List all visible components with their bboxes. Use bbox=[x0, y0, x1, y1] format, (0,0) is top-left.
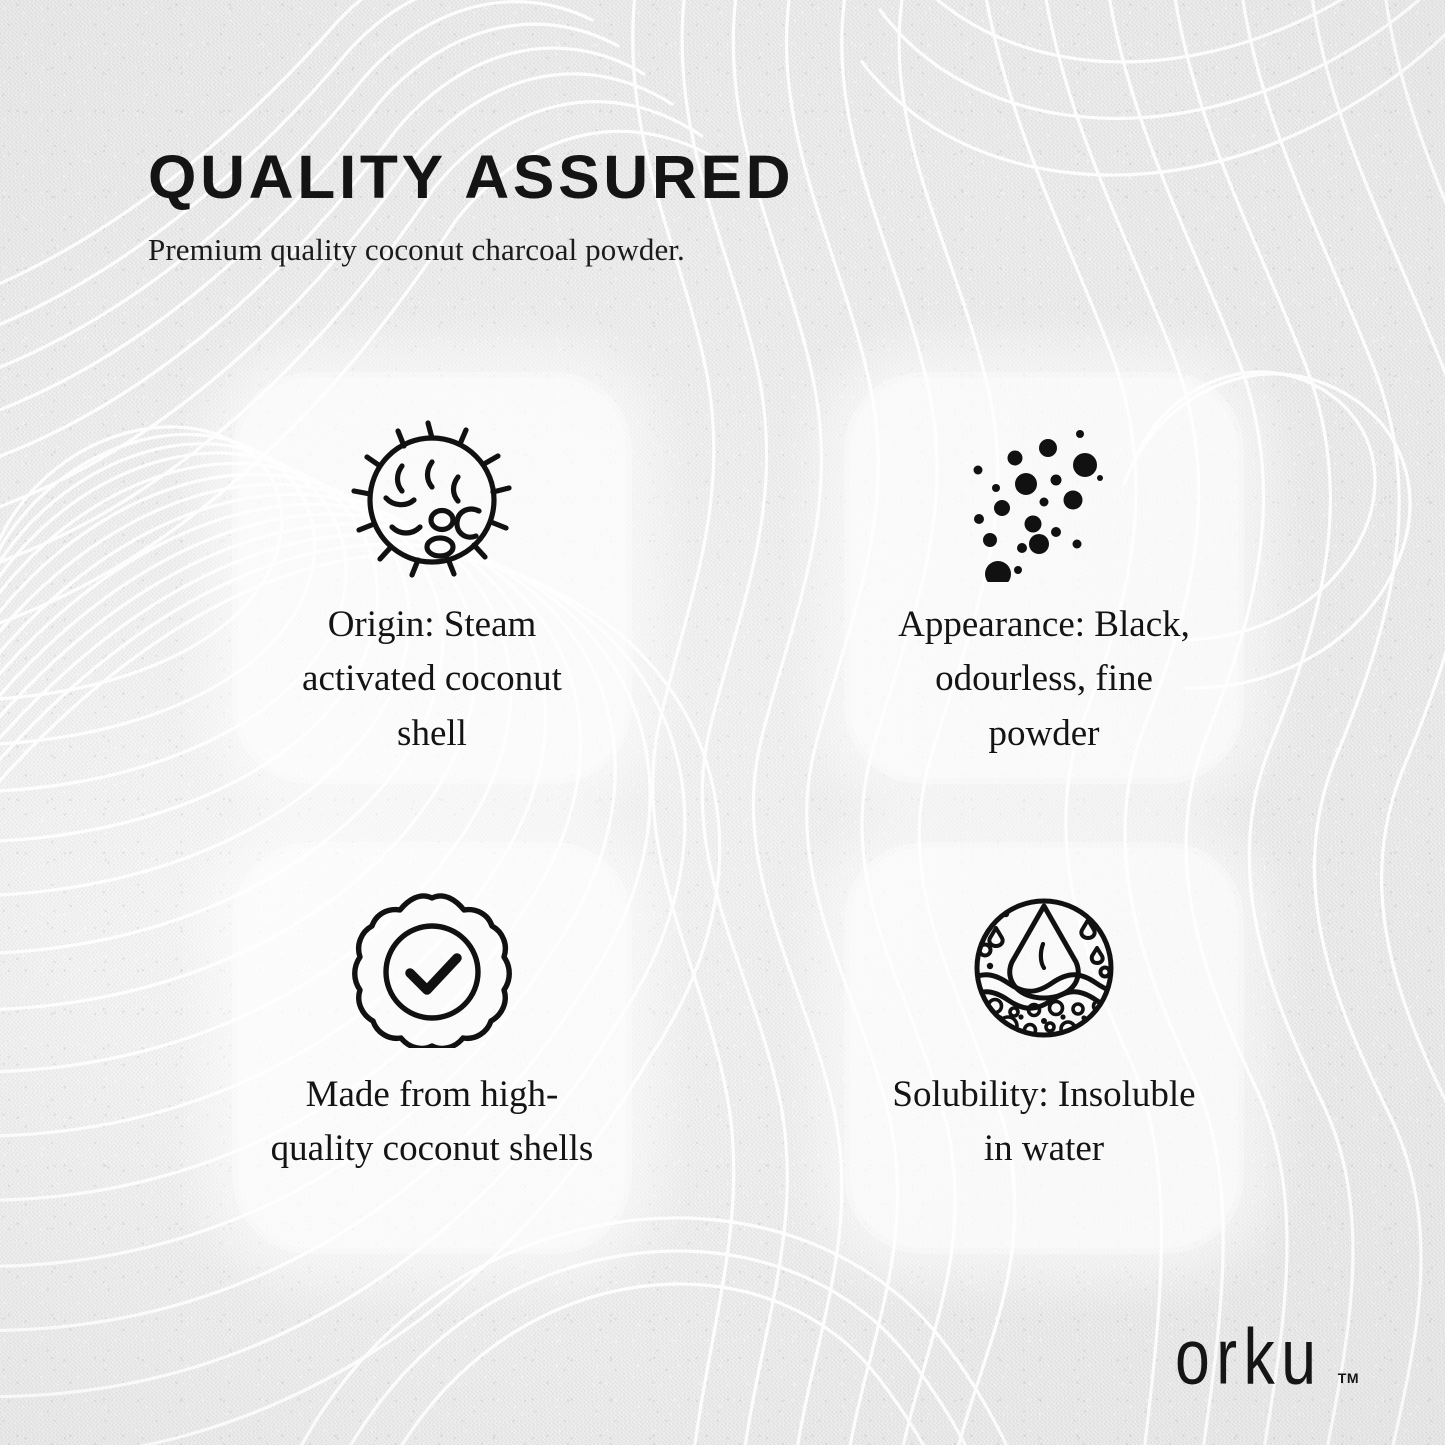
infographic-page: QUALITY ASSURED Premium quality coconut … bbox=[0, 0, 1445, 1445]
feature-card-quality: Made from high-quality coconut shells bbox=[232, 842, 632, 1254]
feature-card-origin: Origin: Steam activated coconut shell bbox=[232, 372, 632, 784]
header: QUALITY ASSURED Premium quality coconut … bbox=[148, 147, 782, 265]
brand-wordmark: orku bbox=[1175, 1322, 1322, 1393]
water-droplet-insoluble-icon bbox=[958, 882, 1130, 1054]
page-title: QUALITY ASSURED bbox=[148, 147, 794, 208]
feature-card-grid: Origin: Steam activated coconut shell bbox=[232, 372, 1264, 1254]
coconut-shell-icon bbox=[346, 412, 518, 584]
quality-badge-check-icon bbox=[346, 882, 518, 1054]
feature-card-text: Appearance: Black, odourless, fine powde… bbox=[879, 598, 1209, 761]
feature-card-appearance: Appearance: Black, odourless, fine powde… bbox=[844, 372, 1244, 784]
powder-particles-icon bbox=[958, 412, 1130, 584]
feature-card-text: Origin: Steam activated coconut shell bbox=[267, 598, 597, 761]
page-subtitle: Premium quality coconut charcoal powder. bbox=[148, 234, 782, 265]
brand-logo: orku TM bbox=[1175, 1332, 1360, 1393]
trademark-symbol: TM bbox=[1338, 1370, 1359, 1386]
feature-card-text: Solubility: Insoluble in water bbox=[879, 1068, 1209, 1177]
feature-card-text: Made from high-quality coconut shells bbox=[267, 1068, 597, 1177]
feature-card-solubility: Solubility: Insoluble in water bbox=[844, 842, 1244, 1254]
